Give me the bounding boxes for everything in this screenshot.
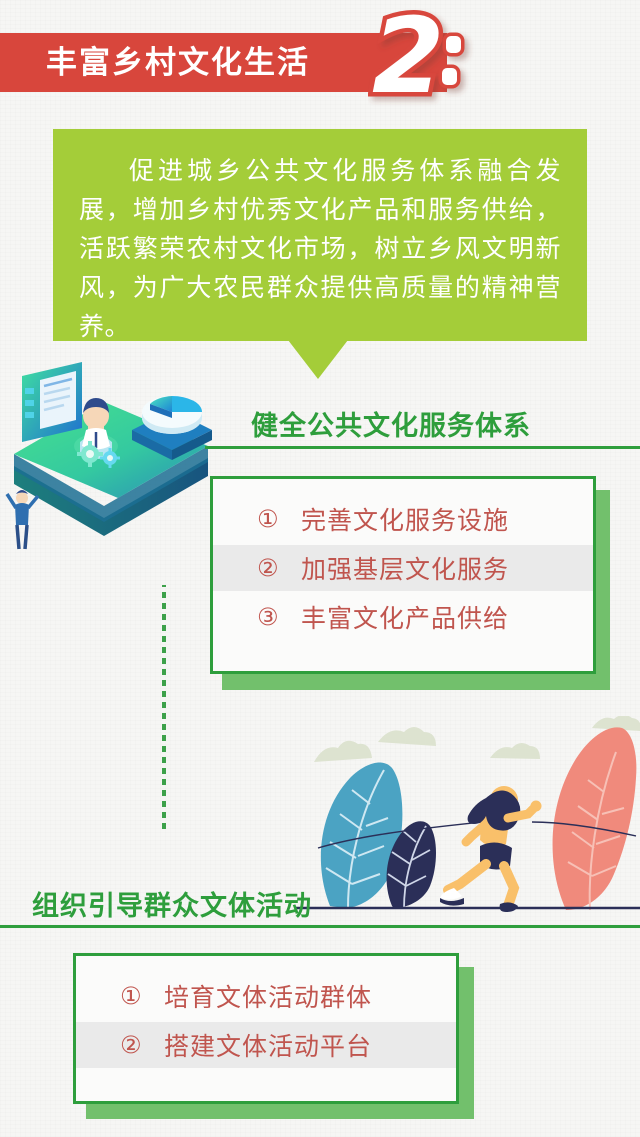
section-number-colon-icon: 2	[368, 6, 488, 116]
list-item-marker: ①	[120, 982, 164, 1010]
list-item-marker: ①	[257, 505, 301, 533]
list-item-label: 加强基层文化服务	[301, 550, 509, 586]
dotted-connector-line	[162, 585, 166, 830]
section-list-box-2: ① 培育文体活动群体 ② 搭建文体活动平台	[73, 953, 459, 1104]
list-item[interactable]: ① 培育文体活动群体	[76, 973, 456, 1019]
list-item-label: 搭建文体活动平台	[164, 1027, 372, 1063]
summary-text: 促进城乡公共文化服务体系融合发展，增加乡村优秀文化产品和服务供给，活跃繁荣农村文…	[79, 151, 561, 346]
section-list-box-1: ① 完善文化服务设施 ② 加强基层文化服务 ③ 丰富文化产品供给	[210, 476, 596, 674]
callout-tail	[288, 340, 348, 379]
page-title: 丰富乡村文化生活	[46, 42, 310, 84]
list-item-marker: ②	[257, 554, 301, 582]
list-item-label: 丰富文化产品供给	[301, 599, 509, 635]
runner-and-leaves-illustration	[296, 716, 640, 916]
list-item[interactable]: ② 搭建文体活动平台	[76, 1022, 456, 1068]
section-rule-2	[0, 925, 640, 928]
list-item[interactable]: ② 加强基层文化服务	[213, 545, 593, 591]
list-item[interactable]: ③ 丰富文化产品供给	[213, 594, 593, 640]
summary-callout: 促进城乡公共文化服务体系融合发展，增加乡村优秀文化产品和服务供给，活跃繁荣农村文…	[53, 129, 587, 341]
section-heading-2: 组织引导群众文体活动	[32, 884, 312, 923]
list-item-label: 培育文体活动群体	[164, 978, 372, 1014]
isometric-illustration-svg	[0, 358, 240, 563]
section-number-badge: 2	[368, 6, 488, 102]
list-item-marker: ②	[120, 1031, 164, 1059]
list-item-marker: ③	[257, 603, 301, 631]
isometric-culture-platform-illustration	[0, 358, 240, 563]
section-rule-1	[205, 446, 640, 449]
list-item[interactable]: ① 完善文化服务设施	[213, 496, 593, 542]
infographic-page: 2 丰富乡村文化生活 促进城乡公共文化服务体系融合发展，增加乡村优秀文化产品和服…	[0, 0, 640, 1137]
list-item-label: 完善文化服务设施	[301, 501, 509, 537]
runner-figure	[440, 786, 542, 912]
section-heading-1: 健全公共文化服务体系	[251, 404, 531, 443]
section-number-text: 2	[372, 6, 444, 116]
runner-illustration-svg	[296, 716, 640, 916]
